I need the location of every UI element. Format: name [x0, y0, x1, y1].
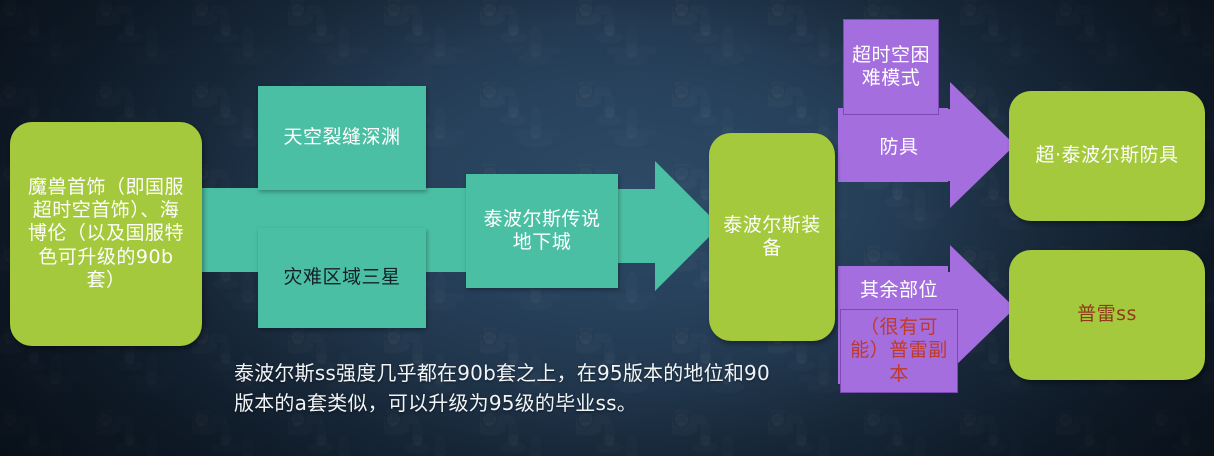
node-sky-rift-abyss[interactable]: 天空裂缝深渊 — [258, 86, 426, 190]
node-time-space-hard-mode[interactable]: 超时空困难模式 — [843, 19, 939, 115]
node-prey-ss[interactable]: 普雷ss — [1009, 250, 1205, 380]
arrow-dungeon-to-gear — [600, 161, 720, 291]
node-disaster-area-three-star[interactable]: 灾难区域三星 — [258, 228, 426, 328]
diagram-caption: 泰波尔斯ss强度几乎都在90b套之上，在95版本的地位和90版本的a套类似，可以… — [234, 358, 779, 419]
node-tayberrs-legend-dungeon-label: 泰波尔斯传说地下城 — [476, 208, 608, 254]
node-prey-dungeon-maybe-label: （很有可能）普雷副本 — [846, 316, 952, 386]
node-tayberrs-gear-label: 泰波尔斯装备 — [719, 214, 825, 260]
node-time-space-hard-mode-label: 超时空困难模式 — [849, 44, 933, 90]
node-tayberrs-gear[interactable]: 泰波尔斯装备 — [709, 133, 835, 341]
node-super-tayberrs-armor-label: 超·泰波尔斯防具 — [1035, 144, 1178, 167]
node-source-materials-label: 魔兽首饰（即国服超时空首饰）、海博伦（以及国服特色可升级的90b套） — [24, 176, 188, 292]
node-prey-ss-label: 普雷ss — [1077, 303, 1137, 326]
node-tayberrs-legend-dungeon[interactable]: 泰波尔斯传说地下城 — [466, 174, 618, 288]
node-disaster-area-three-star-label: 灾难区域三星 — [283, 266, 400, 289]
node-source-materials[interactable]: 魔兽首饰（即国服超时空首饰）、海博伦（以及国服特色可升级的90b套） — [10, 122, 202, 346]
diagram-canvas: 魔兽首饰（即国服超时空首饰）、海博伦（以及国服特色可升级的90b套） 天空裂缝深… — [0, 0, 1214, 456]
node-super-tayberrs-armor[interactable]: 超·泰波尔斯防具 — [1009, 91, 1205, 221]
node-prey-dungeon-maybe[interactable]: （很有可能）普雷副本 — [840, 309, 958, 393]
node-sky-rift-abyss-label: 天空裂缝深渊 — [283, 126, 400, 149]
